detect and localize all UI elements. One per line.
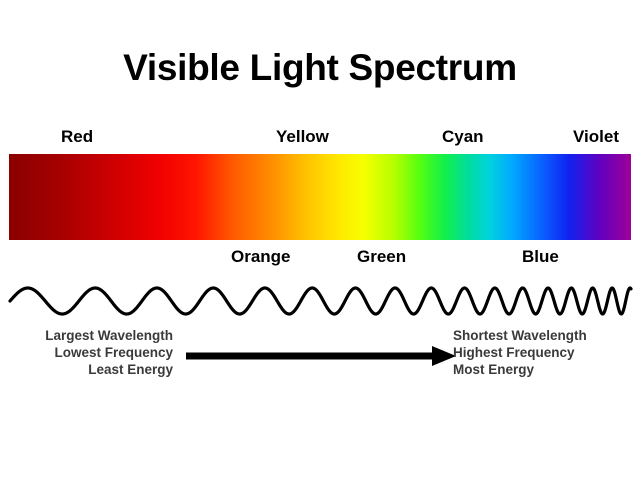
annotation-line: Lowest Frequency <box>0 344 173 361</box>
visible-light-spectrum-diagram: Visible Light Spectrum RedYellowCyanViol… <box>0 0 640 480</box>
label-violet: Violet <box>573 128 619 146</box>
high-energy-annotation: Shortest WavelengthHighest FrequencyMost… <box>453 327 640 378</box>
visible-light-spectrum-bar <box>9 154 631 240</box>
label-yellow: Yellow <box>276 128 329 146</box>
spectrum-gradient-svg <box>9 154 631 240</box>
label-red: Red <box>61 128 93 146</box>
page-title: Visible Light Spectrum <box>0 48 640 88</box>
annotation-line: Shortest Wavelength <box>453 327 640 344</box>
label-orange: Orange <box>231 248 291 266</box>
spectrum-rect <box>9 154 631 240</box>
annotation-line: Highest Frequency <box>453 344 640 361</box>
wave-path <box>10 288 631 314</box>
low-energy-annotation: Largest WavelengthLowest FrequencyLeast … <box>0 327 173 378</box>
label-blue: Blue <box>522 248 559 266</box>
direction-arrow <box>184 344 460 368</box>
annotation-line: Least Energy <box>0 361 173 378</box>
annotation-line: Largest Wavelength <box>0 327 173 344</box>
wavelength-wave <box>0 274 640 326</box>
label-cyan: Cyan <box>442 128 484 146</box>
annotation-line: Most Energy <box>453 361 640 378</box>
label-green: Green <box>357 248 406 266</box>
